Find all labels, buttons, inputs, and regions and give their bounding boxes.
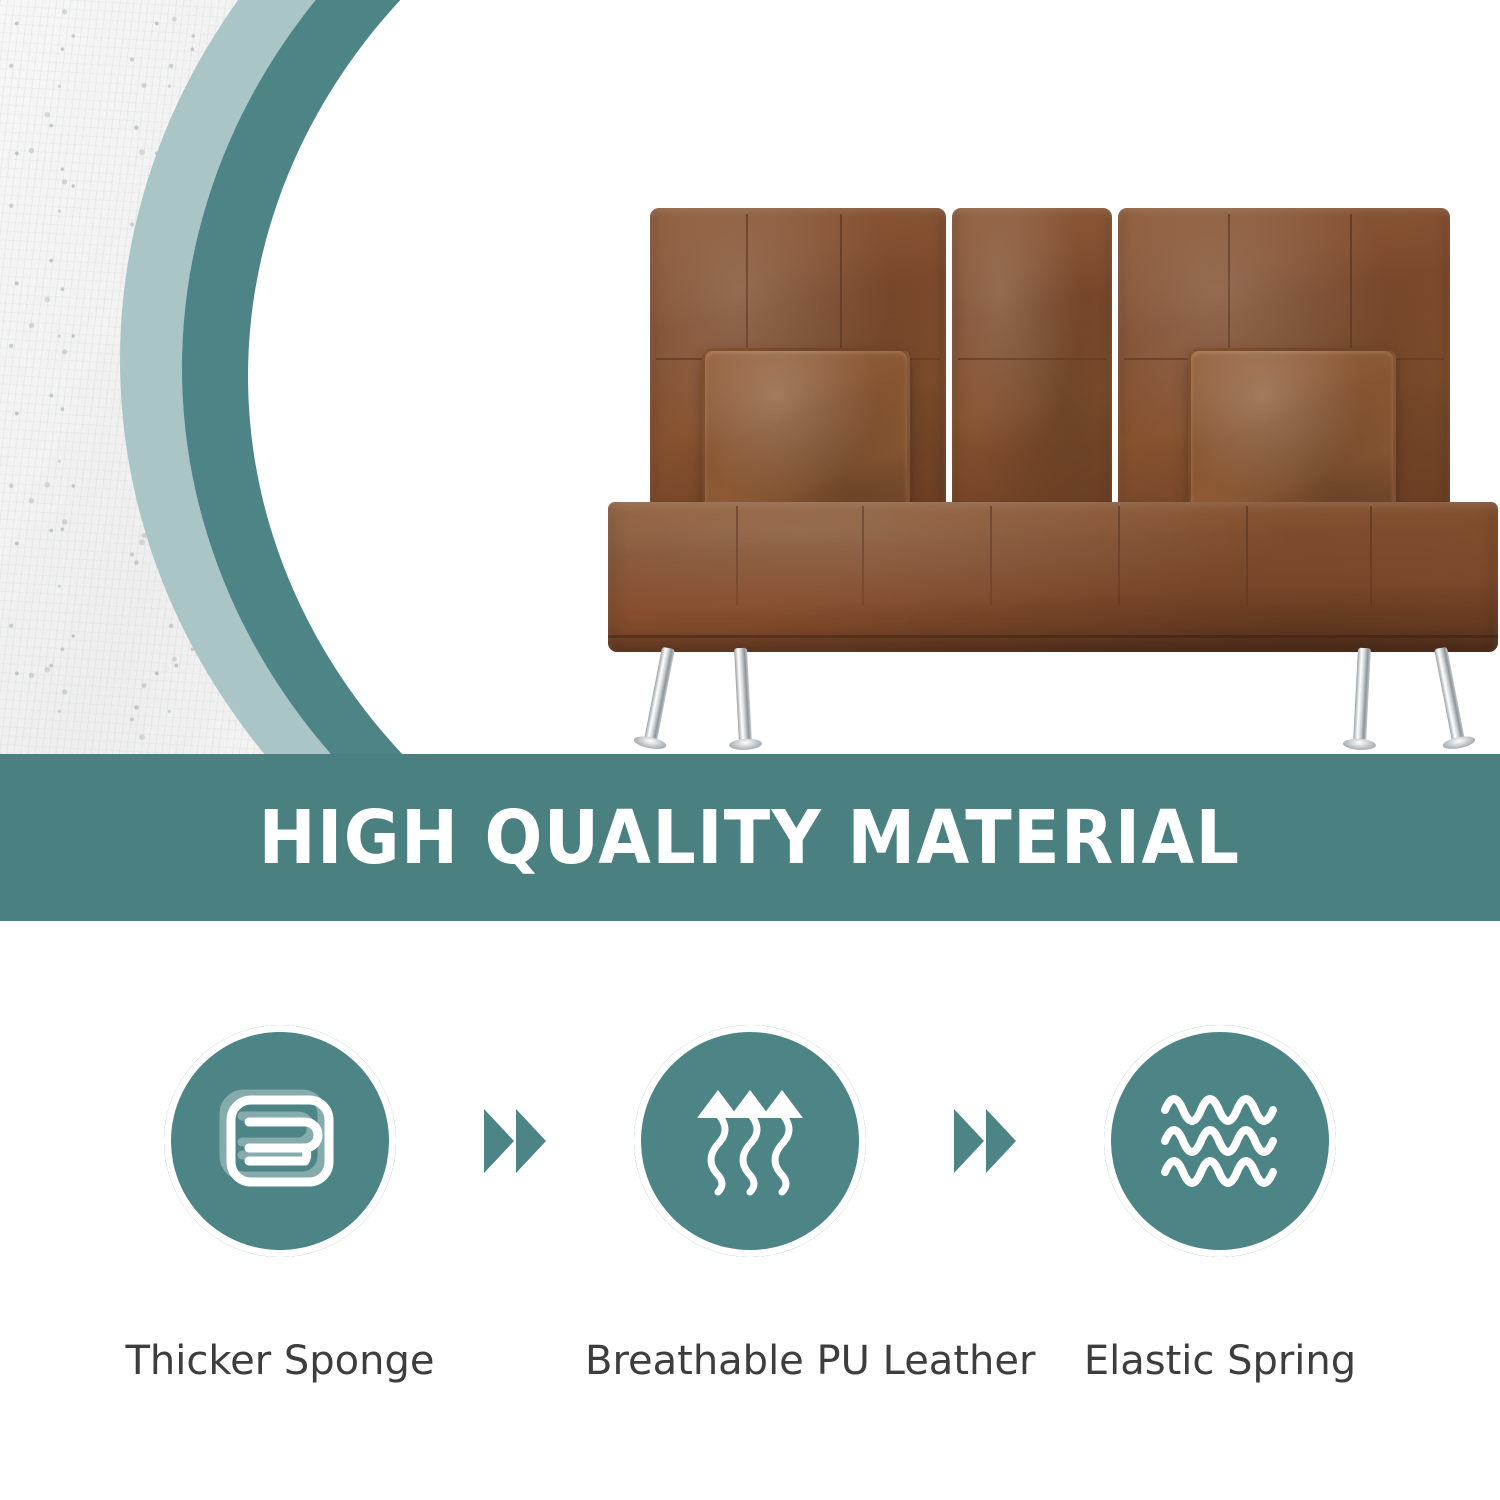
hero-section bbox=[0, 0, 1500, 754]
feature-icon-row bbox=[0, 1016, 1500, 1266]
product-feature-infographic: HIGH QUALITY MATERIAL bbox=[0, 0, 1500, 1500]
back-cushion-center bbox=[952, 208, 1112, 518]
feature-item-thicker-sponge bbox=[115, 1025, 445, 1257]
feature-label-breathable-pu-leather: Breathable PU Leather bbox=[585, 1338, 915, 1384]
features-section: Thicker Sponge Breathable PU Leather Ela… bbox=[0, 921, 1500, 1500]
sofa-product-image bbox=[598, 196, 1498, 666]
feature-label-elastic-spring: Elastic Spring bbox=[1055, 1338, 1385, 1384]
sofa-seat-cushion bbox=[608, 502, 1498, 652]
feature-label-thicker-sponge: Thicker Sponge bbox=[115, 1338, 445, 1384]
double-chevron-right-icon bbox=[484, 1109, 546, 1173]
feature-item-elastic-spring bbox=[1055, 1025, 1385, 1257]
headline-text: HIGH QUALITY MATERIAL bbox=[259, 795, 1241, 881]
double-chevron-right-icon bbox=[954, 1109, 1016, 1173]
separator-arrow-2 bbox=[915, 1109, 1055, 1173]
breathable-airflow-arrows-icon bbox=[634, 1025, 866, 1257]
elastic-spring-waves-icon bbox=[1104, 1025, 1336, 1257]
feature-item-breathable-pu-leather bbox=[585, 1025, 915, 1257]
separator-arrow-1 bbox=[445, 1109, 585, 1173]
headline-banner: HIGH QUALITY MATERIAL bbox=[0, 754, 1500, 921]
feature-label-row: Thicker Sponge Breathable PU Leather Ela… bbox=[0, 1316, 1500, 1406]
folded-sponge-layers-icon bbox=[164, 1025, 396, 1257]
